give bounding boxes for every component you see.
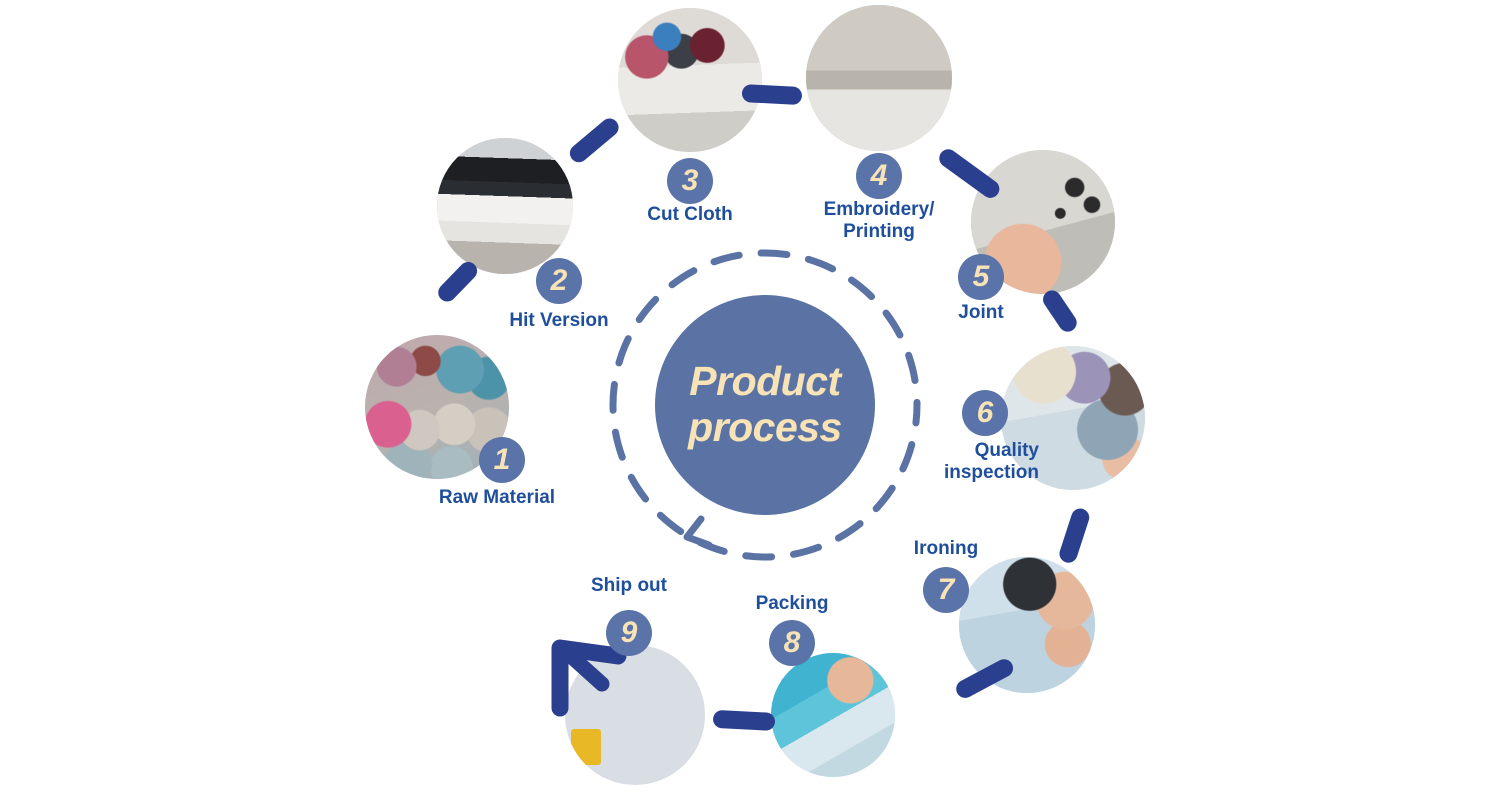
step-7-badge: 7 [923, 567, 969, 613]
step-5-label: Joint [881, 302, 1081, 324]
step-6-label: Quality inspection [879, 440, 1039, 485]
step-4-badge: 4 [856, 153, 902, 199]
step-3-label: Cut Cloth [590, 204, 790, 226]
cutting-machine-photo [618, 8, 762, 152]
step-1-badge: 1 [479, 437, 525, 483]
center-hub: Product process [655, 295, 875, 515]
step-4-label: Embroidery/ Printing [779, 199, 979, 244]
connector-8-to-9 [713, 710, 776, 731]
step-5-badge: 5 [958, 254, 1004, 300]
step-7-label: Ironing [846, 538, 1046, 560]
step-3-photo [618, 8, 762, 152]
center-hub-title: Product process [688, 359, 842, 451]
step-9-badge: 9 [606, 610, 652, 656]
step-2-badge: 2 [536, 258, 582, 304]
ring-arrowhead [687, 519, 709, 545]
poly-bagging-photo [771, 653, 895, 777]
connector-2-to-3 [566, 115, 622, 166]
step-3-badge: 3 [667, 158, 713, 204]
connector-3-to-4 [742, 84, 803, 105]
step-8-badge: 8 [769, 620, 815, 666]
embroidery-machine-photo [806, 5, 952, 151]
pattern-plotter-photo [437, 138, 573, 274]
step-1-label: Raw Material [397, 487, 597, 509]
step-2-label: Hit Version [459, 310, 659, 332]
product-process-diagram: Product process 1 Raw Material 2 Hit Ver… [0, 0, 1500, 801]
step-2-photo [437, 138, 573, 274]
step-8-photo [771, 653, 895, 777]
step-9-label: Ship out [529, 575, 729, 597]
step-6-badge: 6 [962, 390, 1008, 436]
step-4-photo [806, 5, 952, 151]
